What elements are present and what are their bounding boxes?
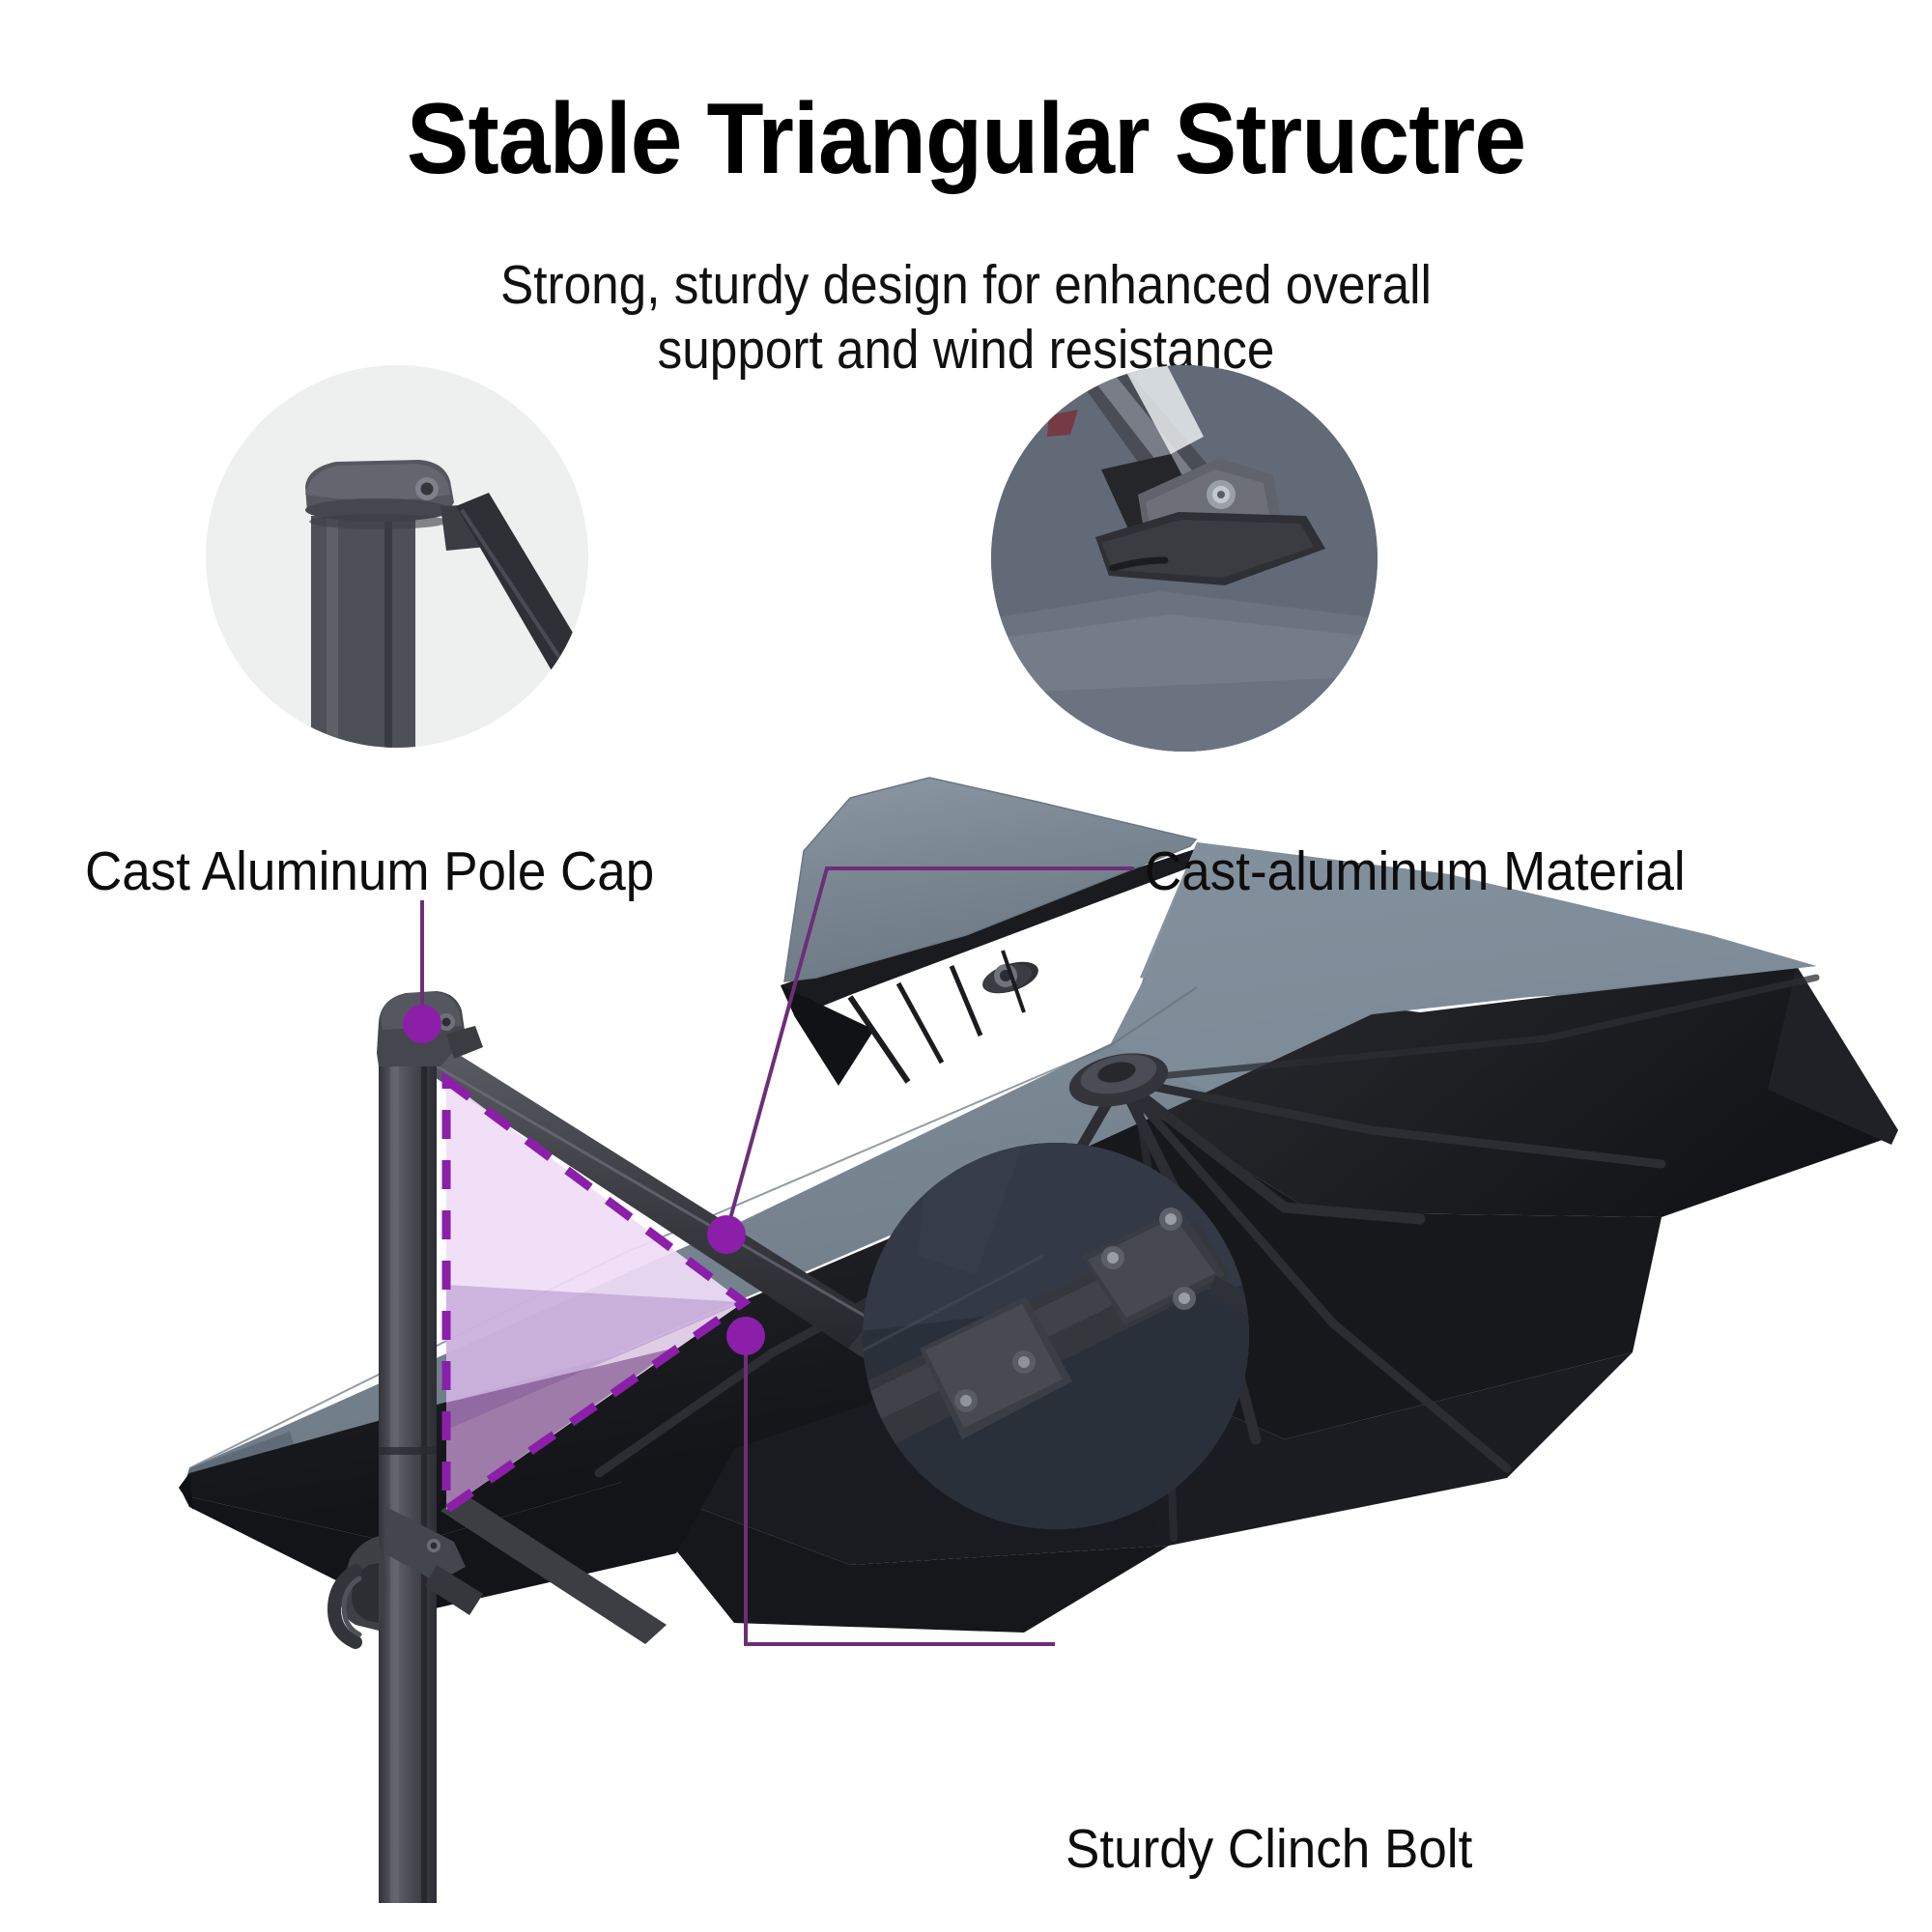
main-pole	[379, 1053, 437, 1903]
detail-photo-pole-cap	[206, 365, 599, 757]
triangular-structure-overlay	[446, 1080, 744, 1510]
left-canopy-underside	[179, 1206, 1053, 1615]
main-canopy-underside	[618, 966, 1898, 1633]
detail-photo-cast-aluminum	[991, 365, 1378, 752]
canopy-hub-icon	[980, 959, 1035, 999]
canopy-center-hub	[1065, 1045, 1174, 1115]
detail-photo-clinch-bolt	[863, 1143, 1249, 1529]
page-subtitle: Strong, sturdy design for enhanced overa…	[97, 253, 1835, 383]
callout-label-pole-cap: Cast Aluminum Pole Cap	[85, 842, 654, 900]
canopy-ribs	[599, 978, 1816, 1538]
lower-brace	[437, 1493, 755, 1708]
main-canopy-top	[184, 842, 1816, 1488]
upper-canopy	[781, 778, 1203, 1086]
infographic-canvas: Stable Triangular Structre Strong, sturd…	[0, 0, 1932, 1932]
callout-label-cast-aluminum-material: Cast-aluminum Material	[1145, 842, 1686, 900]
subtitle-line-1: Strong, sturdy design for enhanced overa…	[97, 253, 1835, 318]
tilt-handle	[334, 1507, 483, 1642]
callout-connectors	[422, 868, 1134, 1644]
callout-anchor-dots	[403, 1005, 765, 1355]
subtitle-line-2: support and wind resistance	[97, 318, 1835, 383]
pole-cap	[377, 991, 483, 1066]
page-title: Stable Triangular Structre	[68, 89, 1864, 189]
callout-label-sturdy-clinch-bolt: Sturdy Clinch Bolt	[1065, 1820, 1472, 1878]
cantilever-arm	[417, 1045, 1145, 1524]
bolt-heads	[954, 1207, 1196, 1412]
